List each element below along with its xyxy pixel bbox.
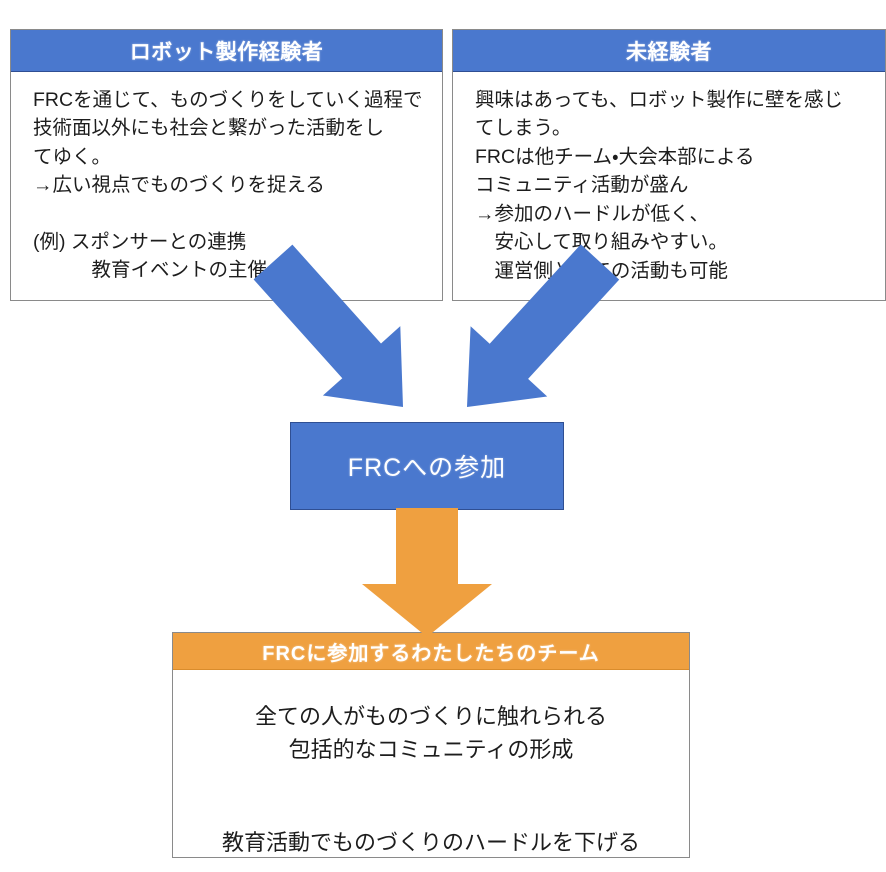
box-experienced-header: ロボット製作経験者 <box>11 30 442 72</box>
box-experienced-body-example: (例) スポンサーとの連携 教育イベントの主催 <box>11 214 442 285</box>
box-team-body-secondary: 教育活動でものづくりのハードルを下げる <box>173 796 689 859</box>
box-team-body-primary: 全ての人がものづくりに触れられる 包括的なコミュニティの形成 <box>173 670 689 766</box>
box-frc-participation: FRCへの参加 <box>290 422 564 510</box>
box-novice-body-primary: 興味はあっても、ロボット製作に壁を感じ てしまう。 FRCは他チーム・大会本部に… <box>453 72 885 285</box>
box-novice-header: 未経験者 <box>453 30 885 72</box>
arrow-down-orange-icon <box>362 508 492 637</box>
diagram-canvas: ロボット製作経験者 FRCを通じて、ものづくりをしていく過程で 技術面以外にも社… <box>0 0 886 872</box>
box-team: FRCに参加するわたしたちのチーム 全ての人がものづくりに触れられる 包括的なコ… <box>172 632 690 858</box>
box-experienced-body-primary: FRCを通じて、ものづくりをしていく過程で 技術面以外にも社会と繋がった活動をし… <box>11 72 442 200</box>
box-frc-participation-label: FRCへの参加 <box>348 448 506 484</box>
box-experienced: ロボット製作経験者 FRCを通じて、ものづくりをしていく過程で 技術面以外にも社… <box>10 29 443 301</box>
box-novice: 未経験者 興味はあっても、ロボット製作に壁を感じ てしまう。 FRCは他チーム・… <box>452 29 886 301</box>
box-team-body-spacer <box>173 766 689 796</box>
box-experienced-body-spacer <box>11 200 442 214</box>
box-team-header: FRCに参加するわたしたちのチーム <box>173 633 689 670</box>
